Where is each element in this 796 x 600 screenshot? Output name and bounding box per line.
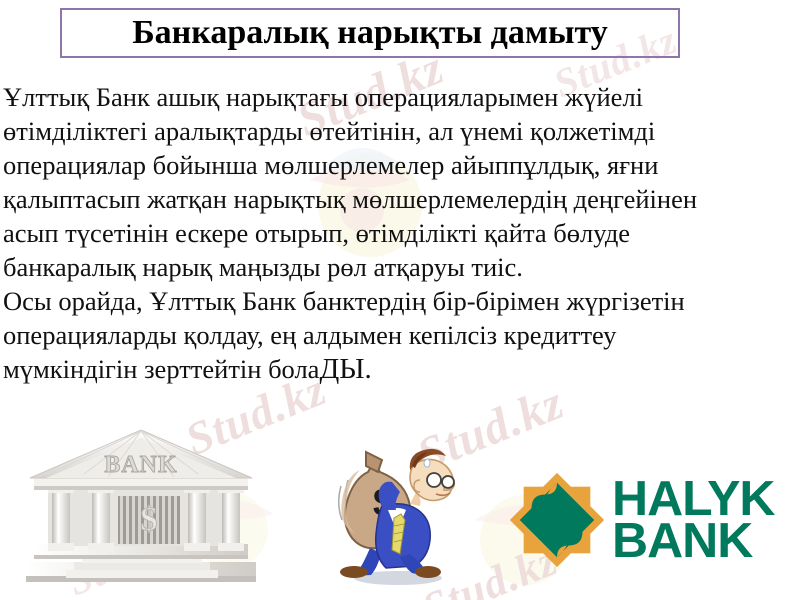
bank-dollar-glyph: $ xyxy=(141,501,158,538)
body-line: өтімділіктегі аралықтарды өтейтінін, ал … xyxy=(3,114,793,148)
halyk-bank-logo-mark xyxy=(508,471,606,569)
halyk-word-line2: BANK xyxy=(612,520,774,562)
man-carrying-money-bag-cartoon: $ xyxy=(324,444,476,596)
body-line-last-head: мүмкіндігін зерттейтін бола xyxy=(3,354,319,384)
body-line: операциялар бойынша мөлшерлемелер айыппұ… xyxy=(3,148,793,182)
halyk-bank-wordmark: HALYK BANK xyxy=(612,478,771,562)
page-title: Банкаралық нарықты дамыту xyxy=(132,16,608,50)
slide-title-box: Банкаралық нарықты дамыту xyxy=(60,8,680,58)
body-line: банкаралық нарық маңызды рөл атқаруы тиі… xyxy=(3,250,793,284)
body-line: Осы орайда, Ұлттық Банк банктердің бір-б… xyxy=(3,284,793,318)
slide-body-text: Ұлттық Банк ашық нарықтағы операцияларым… xyxy=(3,80,793,386)
body-line: асып түсетінін ескере отырып, өтімділікт… xyxy=(3,216,793,250)
body-line-last-tail: ДЫ. xyxy=(319,353,371,385)
halyk-bank-logo: HALYK BANK xyxy=(508,470,790,570)
body-line: қалыптасып жатқан нарықтық мөлшерлемелер… xyxy=(3,182,793,216)
slide-canvas: Банкаралық нарықты дамыту Ұлттық Банк аш… xyxy=(0,0,796,600)
bank-pediment-label: BANK xyxy=(104,452,177,478)
body-line-last: мүмкіндігін зерттейтін болаДЫ. xyxy=(3,352,793,386)
bank-building-illustration: $ xyxy=(22,424,260,594)
body-line: операцияларды қолдау, ең алдымен кепілсі… xyxy=(3,318,793,352)
body-line: Ұлттық Банк ашық нарықтағы операцияларым… xyxy=(3,80,793,114)
